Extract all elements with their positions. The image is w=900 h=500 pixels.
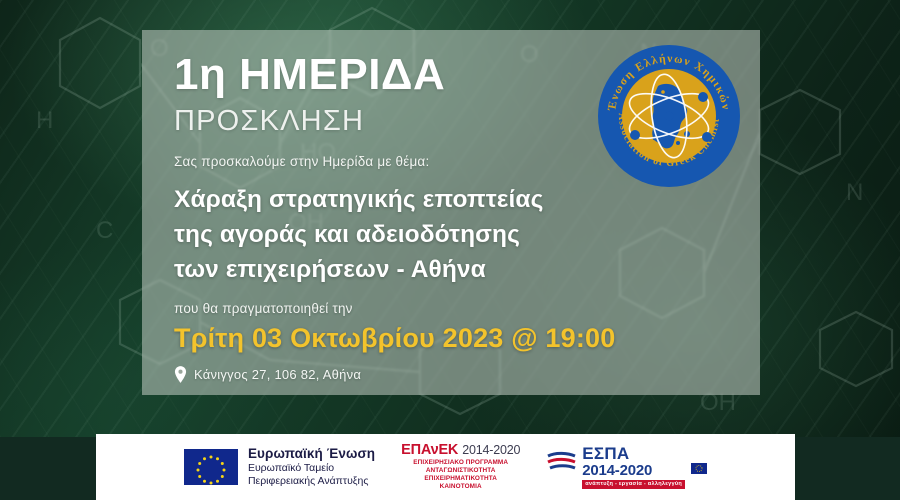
event-datetime: Τρίτη 03 Οκτωβρίου 2023 @ 19:00 (174, 323, 604, 354)
event-venue-address: Κάνιγγος 27, 106 82, Αθήνα (194, 367, 361, 382)
svg-text:H: H (36, 107, 53, 134)
epanek-logo: ΕΠΑνΕΚ 2014-2020 ΕΠΙΧΕΙΡΗΣΙΑΚΟ ΠΡΟΓΡΑΜΜΑ… (401, 443, 520, 490)
espa-banner: ανάπτυξη - εργασία - αλληλεγγύη (582, 480, 685, 489)
espa-swoosh-icon (546, 450, 576, 484)
content-block: 1η ΗΜΕΡΙΔΑ ΠΡΟΣΚΛΗΣΗ Σας προσκαλούμε στη… (174, 52, 604, 383)
event-topic-line-3: των επιχειρήσεων - Αθήνα (174, 253, 604, 288)
map-pin-icon (174, 366, 187, 383)
epanek-years: 2014-2020 (462, 444, 520, 458)
invitation-lead-text: Σας προσκαλούμε στην Ημερίδα με θέμα: (174, 154, 604, 169)
funding-logos-footer: Ευρωπαϊκή Ένωση Ευρωπαϊκό Ταμείο Περιφερ… (96, 434, 795, 500)
european-union-flag-icon (184, 449, 238, 485)
association-of-greek-chemists-logo: Ένωση Ελλήνων Χημικών Association of Gre… (595, 42, 743, 190)
epanek-subtitle-1: ΕΠΙΧΕΙΡΗΣΙΑΚΟ ΠΡΟΓΡΑΜΜΑ (401, 460, 520, 467)
european-union-logo: Ευρωπαϊκή Ένωση Ευρωπαϊκό Ταμείο Περιφερ… (184, 446, 375, 488)
svg-text:C: C (96, 217, 113, 244)
epanek-subtitle-4: ΚΑΙΝΟΤΟΜΙΑ (401, 484, 520, 491)
event-topic-line-1: Χάραξη στρατηγικής εποπτείας (174, 183, 604, 218)
svg-text:N: N (846, 179, 863, 206)
eu-line-3: Περιφερειακής Ανάπτυξης (248, 475, 375, 488)
espa-logo: ΕΣΠΑ 2014-2020 ανάπτυξη - εργασία - αλλη… (546, 445, 707, 489)
epanek-subtitle-2: ΑΝΤΑΓΩΝΙΣΤΙΚΟΤΗΤΑ (401, 468, 520, 475)
espa-years: 2014-2020 (582, 463, 685, 479)
event-topic-line-2: της αγοράς και αδειοδότησης (174, 218, 604, 253)
invitation-poster: H O HO OH N N O OH C 1η ΗΜΕΡΙΔΑ ΠΡΟΣΚΛΗΣ… (0, 0, 900, 500)
event-venue: Κάνιγγος 27, 106 82, Αθήνα (174, 366, 604, 383)
european-union-mini-flag-icon (691, 463, 707, 474)
eu-line-1: Ευρωπαϊκή Ένωση (248, 446, 375, 462)
epanek-title-row: ΕΠΑνΕΚ 2014-2020 (401, 443, 520, 459)
epanek-name: ΕΠΑνΕΚ (401, 443, 458, 459)
event-topic: Χάραξη στρατηγικής εποπτείας της αγοράς … (174, 183, 604, 287)
espa-name: ΕΣΠΑ (582, 445, 685, 463)
european-union-logo-text: Ευρωπαϊκή Ένωση Ευρωπαϊκό Ταμείο Περιφερ… (248, 446, 375, 488)
event-when-label: που θα πραγματοποιηθεί την (174, 301, 604, 316)
eu-line-2: Ευρωπαϊκό Ταμείο (248, 462, 375, 475)
page-title: 1η ΗΜΕΡΙΔΑ (174, 52, 604, 98)
espa-logo-text: ΕΣΠΑ 2014-2020 ανάπτυξη - εργασία - αλλη… (582, 445, 685, 489)
invitation-subtitle: ΠΡΟΣΚΛΗΣΗ (174, 106, 604, 138)
epanek-subtitle-3: ΕΠΙΧΕΙΡΗΜΑΤΙΚΟΤΗΤΑ (401, 476, 520, 483)
